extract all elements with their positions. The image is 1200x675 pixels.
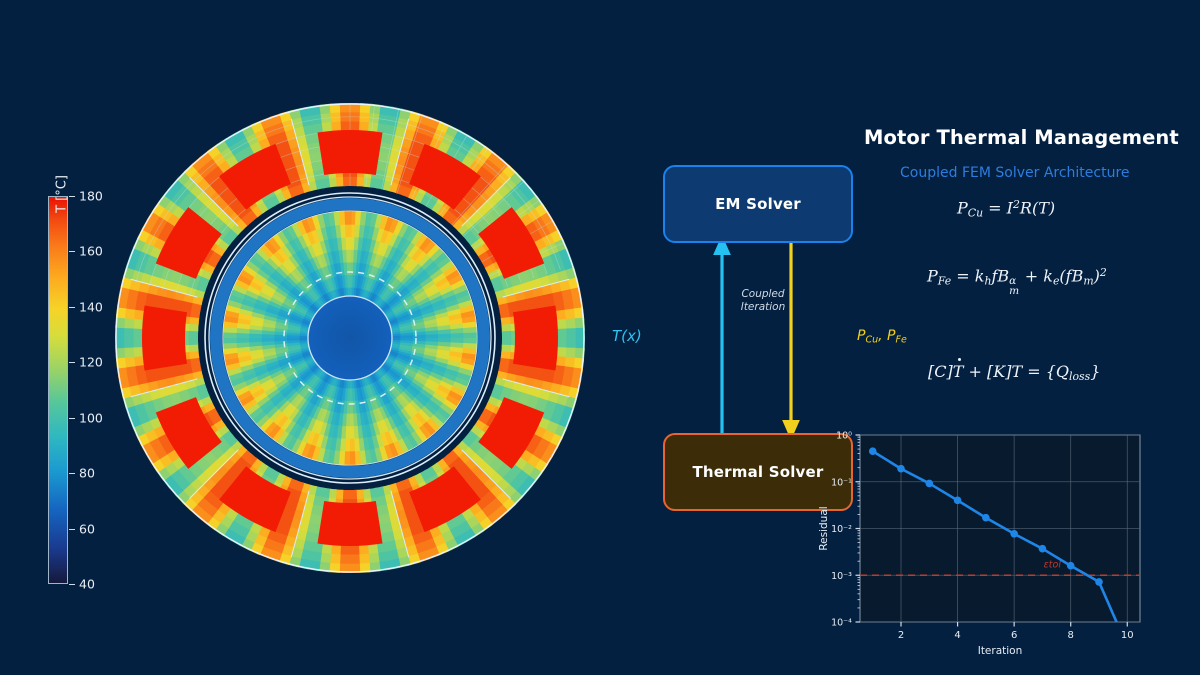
colorbar-tick-label: 140 — [79, 299, 103, 314]
rotor-field-cell — [346, 236, 352, 249]
coupled-iteration-line-1: Coupled — [733, 288, 793, 301]
colorbar-tick-label: 40 — [79, 577, 95, 592]
rotor-field-cell — [344, 211, 351, 225]
tick-label-x: 10 — [1121, 630, 1134, 641]
tick-label-y: 10⁻² — [831, 524, 852, 535]
tick-label-y: 10⁻¹ — [831, 477, 852, 488]
axis-label-y: Residual — [818, 506, 830, 550]
residual-plot-svg: 10⁻⁴10⁻³10⁻²10⁻¹10⁰246810εtolIterationRe… — [815, 425, 1150, 660]
residual-marker — [925, 480, 933, 488]
tick-label-y: 10⁻⁴ — [831, 618, 852, 629]
tick-label-x: 2 — [898, 630, 904, 641]
stator-field-cell — [341, 121, 354, 131]
axis-label-x: Iteration — [978, 645, 1023, 657]
residual-marker — [982, 514, 990, 522]
residual-convergence-plot: 10⁻⁴10⁻³10⁻²10⁻¹10⁰246810εtolIterationRe… — [815, 425, 1150, 660]
residual-marker — [1010, 530, 1018, 538]
slide-canvas: 406080100120140160180 T [°C] — [0, 0, 1200, 675]
colorbar-tick — [69, 418, 75, 419]
stator-slot-winding — [317, 501, 382, 546]
page-title: Motor Thermal Management — [864, 126, 1179, 149]
tick-label-y: 10⁻³ — [831, 571, 852, 582]
colorbar-tick-label: 80 — [79, 466, 95, 481]
temperature-field-label: T(x) — [612, 327, 642, 345]
rotor-field-cell — [346, 249, 351, 262]
residual-marker — [1039, 545, 1047, 553]
colorbar-tick — [69, 584, 75, 585]
stator-field-cell — [343, 176, 352, 186]
coupled-iteration-label: Coupled Iteration — [733, 288, 793, 314]
colorbar-tick-label: 100 — [79, 410, 103, 425]
rotor-field-cell — [347, 274, 351, 287]
rotor-field-cell — [345, 224, 352, 237]
em-solver-node[interactable]: EM Solver — [663, 165, 853, 243]
colorbar-tick — [69, 307, 75, 308]
stator-slot-winding — [142, 305, 187, 370]
motor-shaft — [308, 296, 392, 380]
residual-marker — [954, 497, 962, 505]
rotor-field-cell — [347, 262, 351, 275]
residual-plot-body: 10⁻⁴10⁻³10⁻²10⁻¹10⁰246810εtolIterationRe… — [818, 431, 1140, 657]
tick-label-x: 4 — [954, 630, 960, 641]
residual-marker — [897, 465, 905, 473]
residual-marker — [1067, 562, 1075, 570]
stator-slot-winding — [513, 305, 558, 370]
colorbar-tick-label: 60 — [79, 521, 95, 536]
equation-iron-loss: PFe = khfBαm + ke(fBm)2 — [927, 266, 1107, 287]
colorbar-tick — [69, 473, 75, 474]
equation-copper-loss: PCu = I2R(T) — [957, 198, 1055, 219]
residual-marker — [869, 447, 877, 455]
coupled-iteration-line-2: Iteration — [733, 301, 793, 314]
losses-label: PCu, PFe — [857, 328, 907, 346]
colorbar-gradient — [48, 196, 68, 584]
colorbar-axis-title: T [°C] — [55, 175, 70, 213]
colorbar-tick — [69, 362, 75, 363]
colorbar-tick-label: 160 — [79, 244, 103, 259]
residual-marker — [1095, 578, 1103, 586]
colorbar-tick-label: 120 — [79, 355, 103, 370]
motor-svg — [115, 103, 585, 573]
colorbar-tick — [69, 251, 75, 252]
motor-cross-section-temperature-field — [115, 103, 585, 573]
equation-thermal-balance: [C]T + [K]T = {Qloss} — [928, 362, 1100, 383]
colorbar-tick-label: 180 — [79, 189, 103, 204]
colorbar-tick — [69, 529, 75, 530]
stator-slot-winding — [317, 130, 382, 175]
tick-label-x: 6 — [1011, 630, 1017, 641]
thermal-solver-label: Thermal Solver — [693, 463, 824, 481]
tick-label-y: 10⁰ — [836, 431, 852, 442]
em-solver-label: EM Solver — [715, 195, 801, 213]
colorbar-tick — [69, 196, 75, 197]
motor-body — [115, 103, 585, 573]
tick-label-x: 8 — [1068, 630, 1074, 641]
tolerance-label: εtol — [1044, 559, 1062, 570]
page-subtitle: Coupled FEM Solver Architecture — [900, 165, 1130, 181]
